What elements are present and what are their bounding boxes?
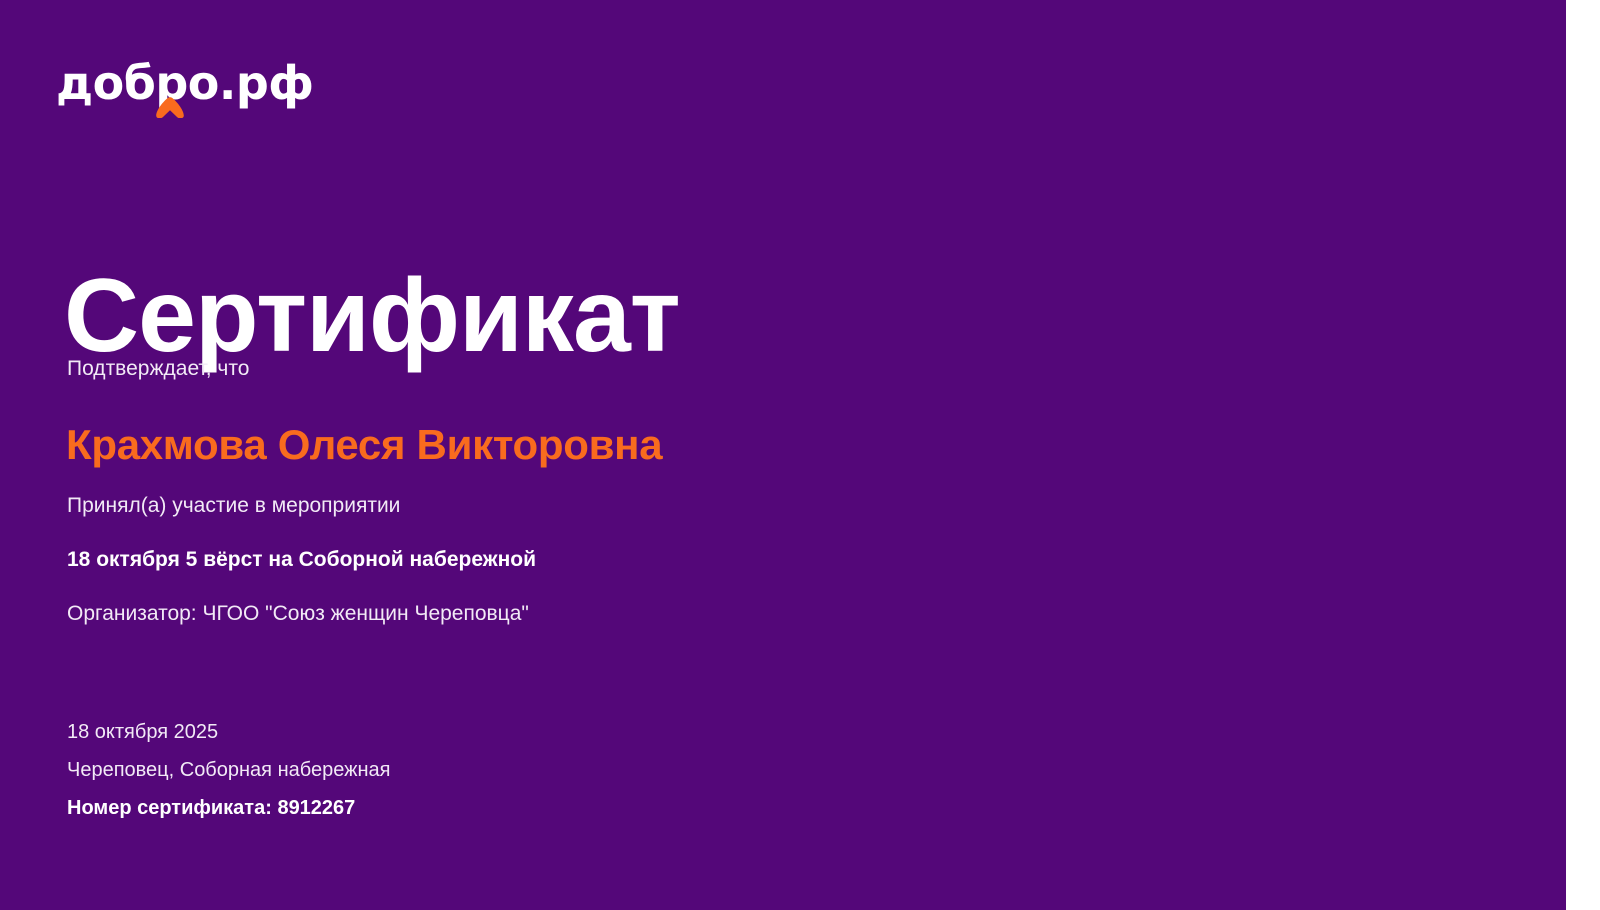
heart-icon (155, 96, 185, 118)
certificate-card: добро.рф Сертификат Подтверждает, что Кр… (0, 0, 1566, 910)
brand-wordmark: добро.рф (56, 58, 356, 108)
certificate-footer: 18 октября 2025 Череповец, Соборная набе… (67, 713, 827, 827)
certificate-page: добро.рф Сертификат Подтверждает, что Кр… (0, 0, 1600, 910)
event-name: 18 октября 5 вёрст на Соборной набережно… (67, 546, 536, 574)
brand-logo[interactable]: добро.рф (56, 58, 356, 120)
recipient-name: Крахмова Олеся Викторовна (66, 419, 662, 471)
intro-text: Подтверждает, что (67, 355, 249, 383)
issue-date: 18 октября 2025 (67, 713, 827, 751)
organizer-text: Организатор: ЧГОО "Союз женщин Череповца… (67, 600, 529, 628)
issue-location: Череповец, Соборная набережная (67, 751, 827, 789)
participation-text: Принял(а) участие в мероприятии (67, 492, 400, 520)
certificate-number: Номер сертификата: 8912267 (67, 789, 827, 827)
